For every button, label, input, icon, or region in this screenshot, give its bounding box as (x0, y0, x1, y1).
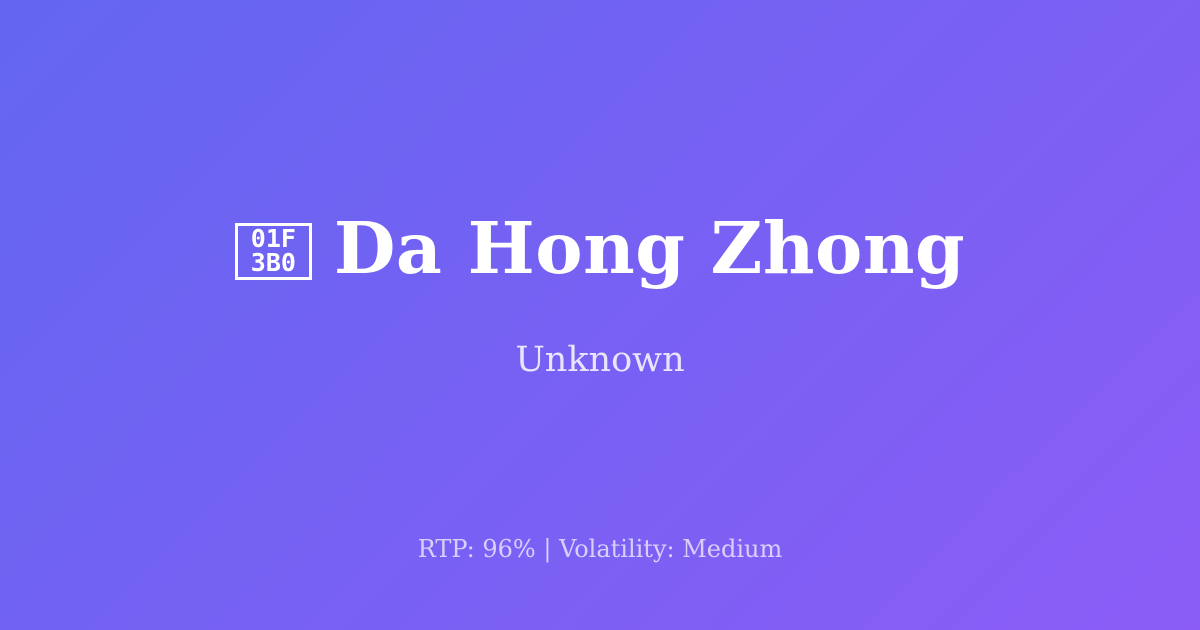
slot-machine-icon: 01F 3B0 (235, 223, 312, 280)
og-card: 01F 3B0 Da Hong Zhong Unknown RTP: 96% |… (0, 0, 1200, 630)
game-meta-line: RTP: 96% | Volatility: Medium (0, 535, 1200, 564)
page-title: Da Hong Zhong (334, 211, 965, 286)
title-row: 01F 3B0 Da Hong Zhong (0, 211, 1200, 286)
codepoint-line-2: 3B0 (251, 251, 296, 275)
hero-block: 01F 3B0 Da Hong Zhong Unknown (0, 211, 1200, 380)
page-subtitle: Unknown (515, 339, 684, 381)
